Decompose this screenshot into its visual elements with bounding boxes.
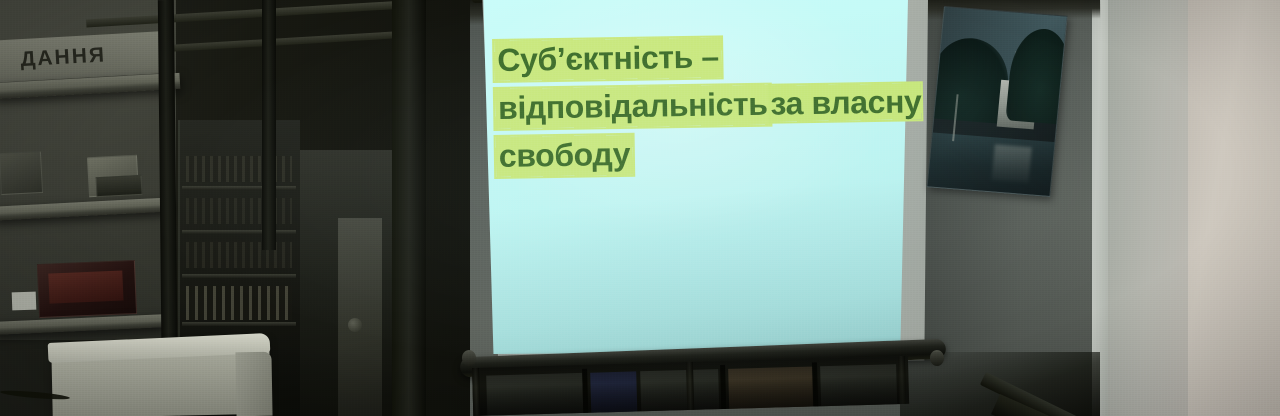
book-row: [186, 156, 292, 182]
bookshelf-divider: [182, 230, 296, 234]
bookshelf-divider: [182, 322, 296, 326]
cabinet-knob: [348, 318, 362, 332]
book-row: [186, 198, 292, 224]
slide-line-3-text: свободу: [496, 135, 634, 177]
wall-right-mid: [1096, 0, 1188, 416]
shelf-sign-label: ДАННЯ: [20, 43, 107, 72]
shelf-display-item: [96, 175, 143, 197]
slide-line-2: відповідальністьза власну: [495, 78, 896, 132]
picture-dim-overlay: [928, 7, 1067, 196]
slide-title-text: Суб’єктність – відповідальністьза власну…: [494, 30, 896, 180]
display-shelving-unit: ДАННЯ: [0, 0, 175, 350]
dark-cabinet: [300, 150, 396, 416]
slide-line-2-text: відповідальність: [495, 85, 771, 129]
slide-line-1-text: Суб’єктність –: [494, 37, 722, 81]
framed-photograph: [927, 6, 1068, 197]
book-row: [186, 286, 292, 320]
cabinet-door-panel: [338, 218, 382, 416]
shelf-label-tag: [12, 292, 37, 311]
slide-line-1: Суб’єктність –: [494, 30, 895, 84]
bookshelf-divider: [182, 274, 296, 278]
bookshelf-post: [262, 0, 276, 250]
shelf-framed-plaque: [37, 260, 137, 318]
slide-line-3: свободу: [496, 126, 897, 180]
photo-scene: ДАННЯ: [0, 0, 1280, 416]
book-row: [186, 242, 292, 268]
wall-far-right: [1178, 0, 1280, 416]
slide-line-2b-text: за власну: [770, 83, 921, 121]
bookshelf-divider: [182, 186, 296, 190]
room-divider-post: [392, 0, 426, 416]
plaque-inner: [48, 271, 123, 304]
shelf-display-item: [0, 151, 43, 195]
lectern-side-edge: [235, 352, 272, 416]
